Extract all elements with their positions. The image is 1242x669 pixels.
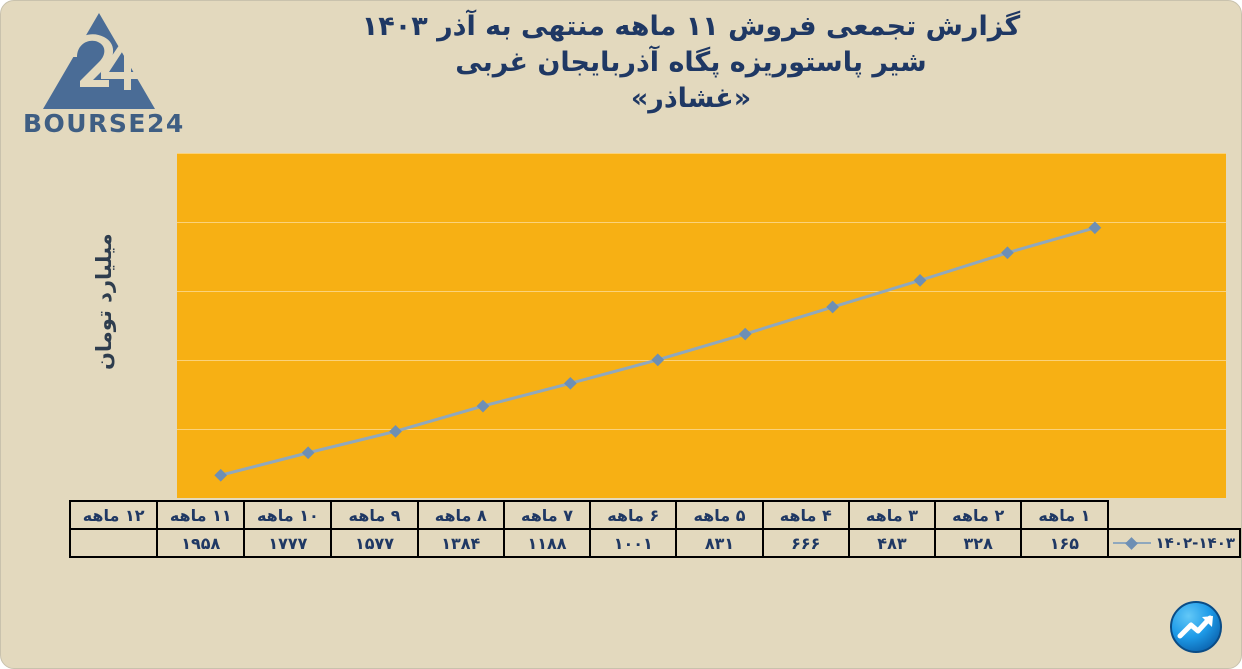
table-cell-value: ۱۰۰۱ bbox=[590, 529, 676, 557]
table-cell-value: ۸۳۱ bbox=[676, 529, 762, 557]
series-marker bbox=[389, 425, 402, 438]
table-column-header: ۷ ماهه bbox=[504, 501, 590, 529]
table-column-header: ۱۱ ماهه bbox=[157, 501, 244, 529]
table-cell-value: ۱۱۸۸ bbox=[504, 529, 590, 557]
series-marker bbox=[651, 353, 664, 366]
table-header-row: ۱ ماهه۲ ماهه۳ ماهه۴ ماهه۵ ماهه۶ ماهه۷ ما… bbox=[70, 501, 1240, 529]
table-column-header: ۳ ماهه bbox=[849, 501, 935, 529]
sales-line-chart: ۰۵۰۰۱۰۰۰۱۵۰۰۲۰۰۰۲۵۰۰ میلیارد تومان bbox=[1, 1, 1242, 669]
uptrend-arrow-badge-icon bbox=[1169, 600, 1223, 654]
series-marker bbox=[1001, 246, 1014, 259]
series-marker bbox=[914, 274, 927, 287]
series-marker bbox=[739, 328, 752, 341]
table-column-header: ۹ ماهه bbox=[331, 501, 417, 529]
legend-label: ۱۴۰۲-۱۴۰۳ bbox=[1156, 534, 1235, 552]
table-cell-value: ۶۶۶ bbox=[763, 529, 849, 557]
table-column-header: ۱ ماهه bbox=[1021, 501, 1107, 529]
series-marker bbox=[302, 446, 315, 459]
table-cell-value: ۴۸۳ bbox=[849, 529, 935, 557]
table-column-header: ۱۰ ماهه bbox=[244, 501, 331, 529]
table-column-header: ۸ ماهه bbox=[418, 501, 504, 529]
table-cell-value: ۳۲۸ bbox=[935, 529, 1021, 557]
table-cell-value: ۱۷۷۷ bbox=[244, 529, 331, 557]
series-layer bbox=[177, 153, 1226, 498]
series-line bbox=[221, 228, 1095, 475]
legend-corner-blank bbox=[1108, 501, 1240, 529]
y-axis-label: میلیارد تومان bbox=[87, 227, 121, 377]
table-column-header: ۴ ماهه bbox=[763, 501, 849, 529]
series-marker bbox=[214, 469, 227, 482]
table-cell-value: ۱۶۵ bbox=[1021, 529, 1107, 557]
table-column-header: ۵ ماهه bbox=[676, 501, 762, 529]
table-column-header: ۲ ماهه bbox=[935, 501, 1021, 529]
series-marker bbox=[564, 377, 577, 390]
series-marker bbox=[826, 301, 839, 314]
table-cell-value: ۱۵۷۷ bbox=[331, 529, 417, 557]
table-value-row: ۱۴۰۲-۱۴۰۳ ۱۶۵۳۲۸۴۸۳۶۶۶۸۳۱۱۰۰۱۱۱۸۸۱۳۸۴۱۵۷… bbox=[70, 529, 1240, 557]
table-cell-value bbox=[70, 529, 157, 557]
series-marker bbox=[1089, 221, 1102, 234]
legend-line-marker-icon bbox=[1113, 538, 1151, 548]
series-legend-cell[interactable]: ۱۴۰۲-۱۴۰۳ bbox=[1108, 529, 1240, 557]
table-column-header: ۶ ماهه bbox=[590, 501, 676, 529]
table-column-header: ۱۲ ماهه bbox=[70, 501, 157, 529]
data-table: ۱ ماهه۲ ماهه۳ ماهه۴ ماهه۵ ماهه۶ ماهه۷ ما… bbox=[69, 500, 1241, 558]
table-cell-value: ۱۳۸۴ bbox=[418, 529, 504, 557]
table-cell-value: ۱۹۵۸ bbox=[157, 529, 244, 557]
report-card: BOURSE24 گزارش تجمعی فروش ۱۱ ماهه منتهی … bbox=[0, 0, 1242, 669]
series-marker bbox=[477, 400, 490, 413]
